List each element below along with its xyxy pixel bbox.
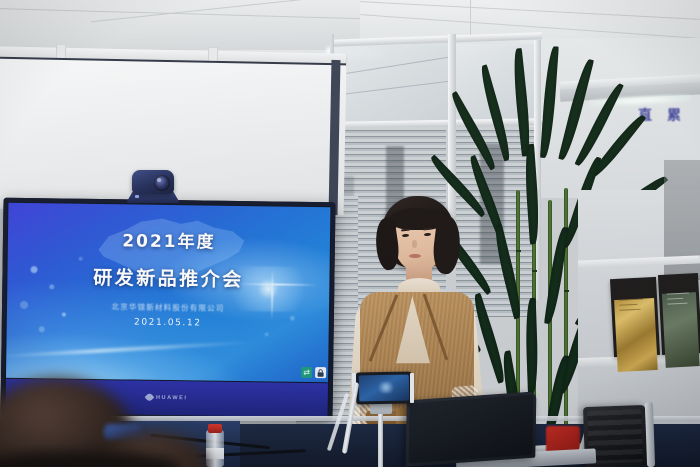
slide-title-line2: 研发新品推介会	[7, 261, 329, 292]
network-status-icon[interactable]: ⇄	[301, 367, 312, 378]
slide-footer: 北京华锦新材料股份有限公司 2021.05.12	[7, 300, 329, 330]
plant-leaf	[523, 144, 541, 245]
laptop[interactable]	[406, 391, 537, 466]
plant-cane	[564, 188, 568, 440]
camera-lens-icon	[154, 175, 170, 191]
lock-icon[interactable]	[315, 367, 326, 378]
ceiling-seam	[0, 8, 420, 21]
plant-leaf	[540, 46, 559, 158]
green-certificate-plaque	[658, 273, 700, 355]
camera-status-led	[135, 195, 139, 198]
bottle-cap	[208, 424, 222, 433]
presenter-mouth	[409, 254, 421, 258]
glass-pane-transom-left	[330, 40, 448, 122]
camera-body	[132, 170, 174, 194]
presenter-nose	[412, 240, 417, 248]
huawei-petal-logo: HUAWEI	[146, 394, 188, 402]
phone-clamp	[410, 373, 414, 403]
presenter-hair-side	[431, 215, 464, 276]
bottle-label	[206, 448, 224, 459]
display-screen[interactable]: 2021年度 研发新品推介会 北京华锦新材料股份有限公司 2021.05.12	[6, 203, 330, 382]
plant-leaf	[511, 48, 533, 157]
huawei-wordmark: HUAWEI	[156, 394, 188, 400]
display-status-icons: ⇄	[301, 367, 326, 378]
smartphone-on-tripod[interactable]	[356, 372, 413, 405]
slide-title-block: 2021年度 研发新品推介会	[7, 231, 330, 293]
phone-screen-glow	[376, 382, 396, 394]
ptz-video-conference-camera[interactable]	[126, 170, 180, 204]
gold-award-plaque	[610, 277, 660, 357]
conference-room-photo: 直 累	[0, 0, 700, 467]
plant-leaf	[525, 298, 539, 394]
slide-title-line1: 2021年度	[8, 231, 330, 254]
phone-screen[interactable]	[359, 375, 409, 402]
huawei-logo-mark	[145, 392, 155, 402]
